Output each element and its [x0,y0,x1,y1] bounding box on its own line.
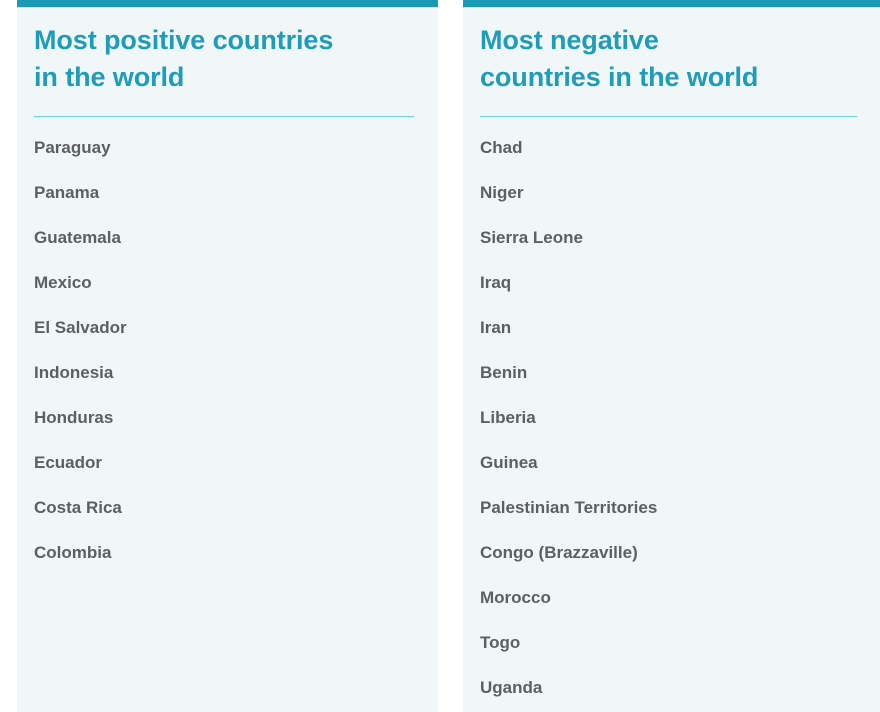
positive-country-list: Paraguay Panama Guatemala Mexico El Salv… [34,125,414,575]
card-content: Most positive countries in the world Par… [17,0,438,575]
list-item: Togo [480,620,856,665]
list-item: Niger [480,170,856,215]
list-item: Iran [480,305,856,350]
list-item: Iraq [480,260,856,305]
list-item: Sierra Leone [480,215,856,260]
list-item: Chad [480,125,856,170]
list-item: Palestinian Territories [480,485,856,530]
page-title: Most negative countries in the world [480,22,856,96]
list-item: Ecuador [34,440,414,485]
list-item: Indonesia [34,350,414,395]
list-item: Costa Rica [34,485,414,530]
list-item: Uganda [480,665,856,710]
card-content: Most negative countries in the world Cha… [463,0,880,710]
most-negative-countries-card: Most negative countries in the world Cha… [463,0,880,712]
title-divider [34,116,414,117]
most-positive-countries-card: Most positive countries in the world Par… [17,0,438,712]
list-item: Guinea [480,440,856,485]
list-item: Mexico [34,260,414,305]
country-ranking-board: Most positive countries in the world Par… [0,0,880,712]
page-title: Most positive countries in the world [34,22,414,96]
list-item: Congo (Brazzaville) [480,530,856,575]
list-item: Honduras [34,395,414,440]
list-item: Colombia [34,530,414,575]
title-divider [480,116,857,117]
list-item: Morocco [480,575,856,620]
list-item: Liberia [480,395,856,440]
list-item: Paraguay [34,125,414,170]
negative-country-list: Chad Niger Sierra Leone Iraq Iran Benin … [480,125,856,710]
list-item: Panama [34,170,414,215]
list-item: Benin [480,350,856,395]
list-item: El Salvador [34,305,414,350]
list-item: Guatemala [34,215,414,260]
